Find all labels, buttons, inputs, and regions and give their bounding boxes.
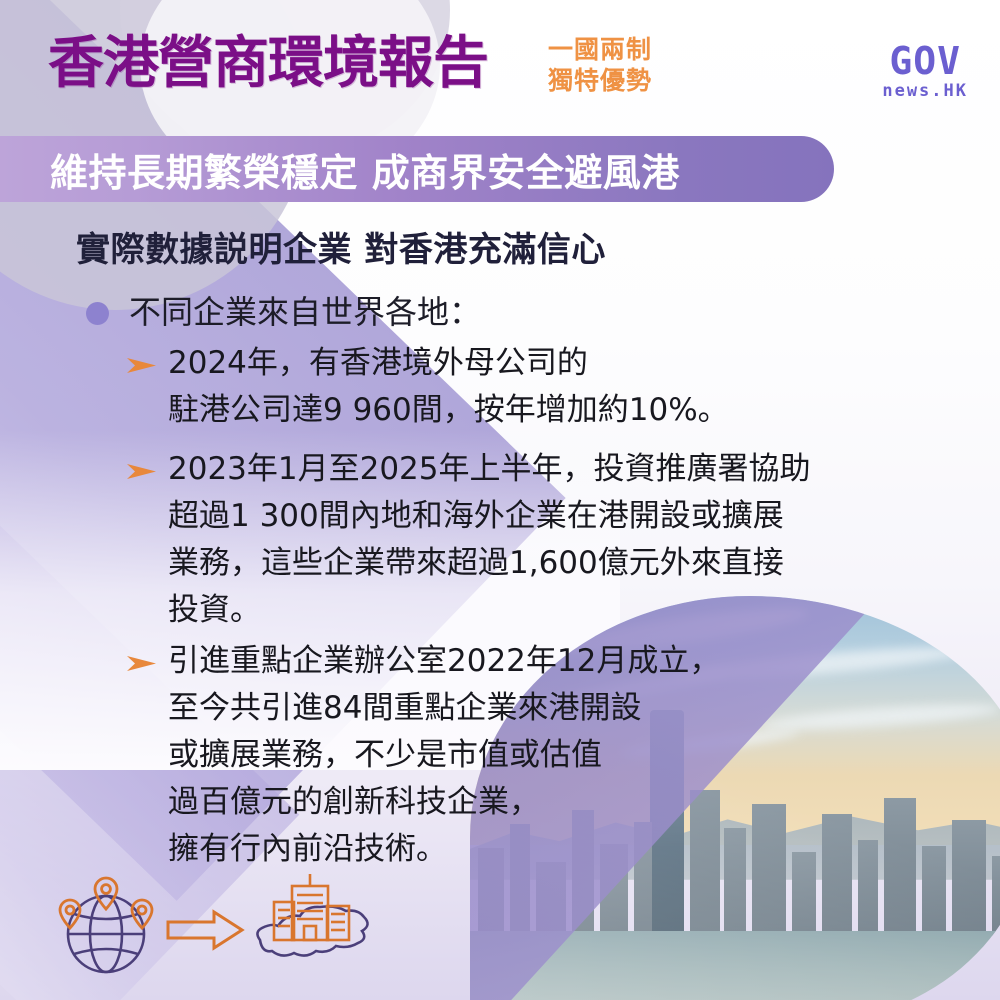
global-to-hongkong-illustration: [46, 862, 376, 982]
list-item-text: 2023年1月至2025年上半年，投資推廣署協助 超過1 300間內地和海外企業…: [168, 446, 811, 634]
list-item: 2024年，有香港境外母公司的 駐港公司達9 960間，按年增加約10%。: [126, 340, 729, 434]
list-item-text: 引進重點企業辦公室2022年12月成立， 至今共引進84間重點企業來港開設 或擴…: [168, 638, 720, 873]
list-item-text: 2024年，有香港境外母公司的 駐港公司達9 960間，按年增加約10%。: [168, 340, 729, 434]
list-item: 引進重點企業辦公室2022年12月成立， 至今共引進84間重點企業來港開設 或擴…: [126, 638, 720, 873]
lead-bullet-row: 不同企業來自世界各地：: [86, 292, 481, 332]
location-pin-icons: [60, 878, 152, 928]
arrow-marker-icon: [126, 354, 160, 378]
arrow-marker-icon: [126, 652, 160, 676]
arrow-marker-icon: [126, 460, 160, 484]
dot-bullet-icon: [86, 302, 109, 325]
right-arrow-icon: [168, 912, 242, 948]
infographic-poster: 香港營商環境報告 一國兩制 獨特優勢 GOV news.HK 維持長期繁榮穩定 …: [0, 0, 1000, 1000]
list-item: 2023年1月至2025年上半年，投資推廣署協助 超過1 300間內地和海外企業…: [126, 446, 811, 634]
lead-bullet-text: 不同企業來自世界各地：: [129, 292, 481, 332]
section-heading: 實際數據説明企業 對香港充滿信心: [76, 222, 606, 271]
poster-content: 實際數據説明企業 對香港充滿信心 不同企業來自世界各地： 2024年，有香港境外…: [0, 0, 1000, 1000]
icon-group: [46, 862, 376, 982]
